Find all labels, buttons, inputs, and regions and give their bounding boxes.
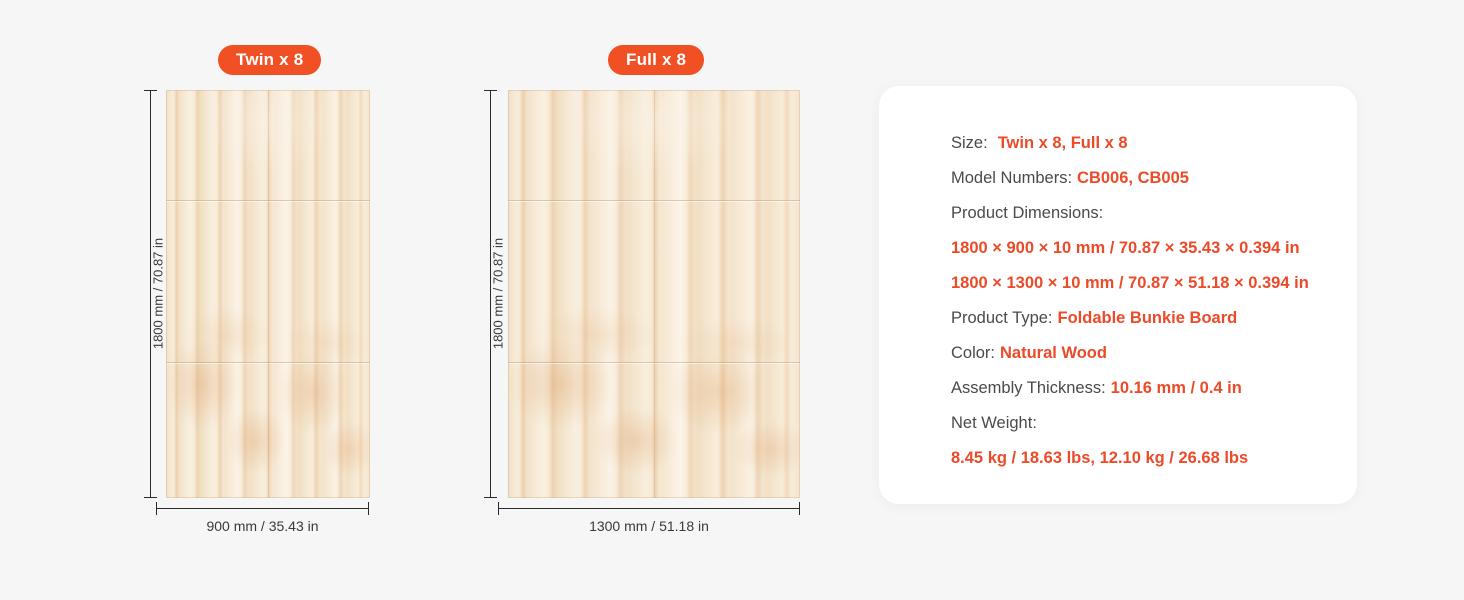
spec-value-model-numbers: CB006, CB005 (1077, 169, 1189, 187)
plywood-board-twin (166, 90, 370, 498)
spec-value-product-type: Foldable Bunkie Board (1058, 309, 1238, 327)
dimension-line-width-twin (156, 508, 369, 509)
dimension-cap-left (156, 502, 157, 515)
board-edge (508, 90, 800, 498)
spec-value-color: Natural Wood (1000, 344, 1107, 362)
spec-value-assembly-thickness: 10.16 mm / 0.4 in (1111, 379, 1242, 397)
spec-row-net-weight: Net Weight: (951, 406, 1357, 441)
spec-row-product-type: Product Type:Foldable Bunkie Board (951, 301, 1357, 336)
product-spec-canvas: Twin x 8 Full x 8 1800 mm / 70.87 in 900… (0, 0, 1464, 600)
spec-label-model-numbers: Model Numbers: (951, 169, 1072, 187)
spec-value-dimensions-twin: 1800 × 900 × 10 mm / 70.87 × 35.43 × 0.3… (951, 231, 1357, 266)
spec-value-dimensions-full: 1800 × 1300 × 10 mm / 70.87 × 51.18 × 0.… (951, 266, 1357, 301)
dimension-cap-right (368, 502, 369, 515)
spec-row-product-dimensions: Product Dimensions: (951, 196, 1357, 231)
specification-card: Size:Twin x 8, Full x 8 Model Numbers:CB… (879, 86, 1357, 504)
dimension-label-height-full: 1800 mm / 70.87 in (491, 224, 506, 364)
spec-value-size: Twin x 8, Full x 8 (998, 134, 1128, 152)
dimension-cap-bottom (484, 497, 497, 498)
spec-label-assembly-thickness: Assembly Thickness: (951, 379, 1106, 397)
spec-row-color: Color:Natural Wood (951, 336, 1357, 371)
dimension-cap-top (484, 90, 497, 91)
spec-row-assembly-thickness: Assembly Thickness:10.16 mm / 0.4 in (951, 371, 1357, 406)
dimension-cap-bottom (144, 497, 157, 498)
spec-label-net-weight: Net Weight: (951, 414, 1037, 432)
spec-label-product-type: Product Type: (951, 309, 1053, 327)
spec-label-product-dimensions: Product Dimensions: (951, 204, 1103, 222)
dimension-cap-left (498, 502, 499, 515)
size-badge-twin: Twin x 8 (218, 45, 321, 75)
dimension-label-width-full: 1300 mm / 51.18 in (498, 518, 800, 534)
dimension-label-width-twin: 900 mm / 35.43 in (156, 518, 369, 534)
dimension-line-width-full (498, 508, 800, 509)
board-edge (166, 90, 370, 498)
spec-label-color: Color: (951, 344, 995, 362)
spec-row-size: Size:Twin x 8, Full x 8 (951, 126, 1357, 161)
dimension-cap-top (144, 90, 157, 91)
spec-value-net-weight: 8.45 kg / 18.63 lbs, 12.10 kg / 26.68 lb… (951, 441, 1357, 476)
plywood-board-full (508, 90, 800, 498)
spec-label-size: Size: (951, 134, 988, 152)
size-badge-full: Full x 8 (608, 45, 704, 75)
dimension-label-height-twin: 1800 mm / 70.87 in (151, 224, 166, 364)
dimension-cap-right (799, 502, 800, 515)
spec-row-model-numbers: Model Numbers:CB006, CB005 (951, 161, 1357, 196)
